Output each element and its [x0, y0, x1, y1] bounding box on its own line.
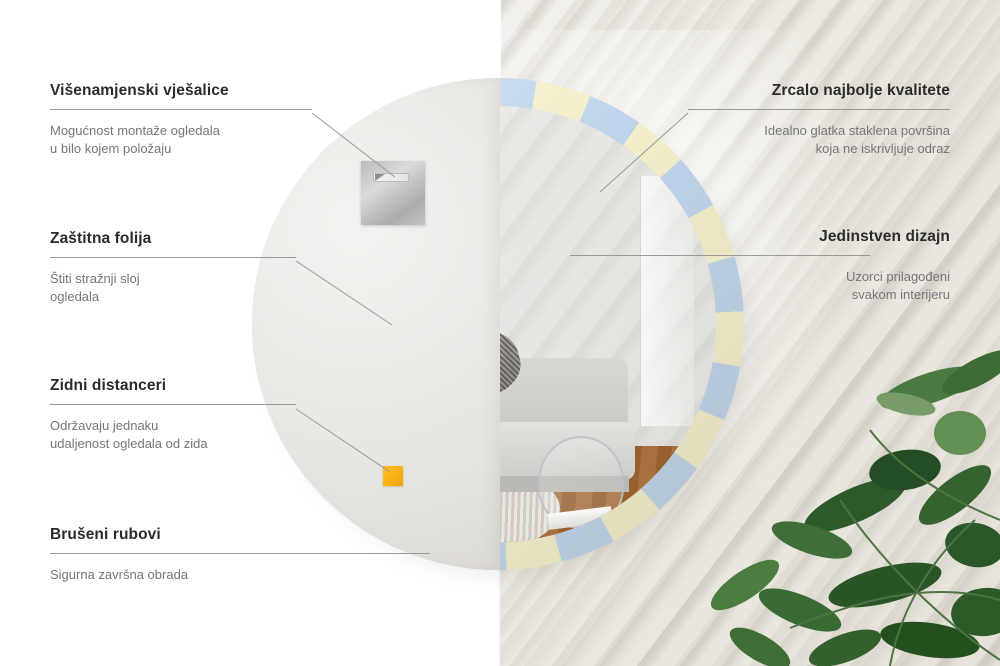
callout-wall-spacers-title: Zidni distanceri: [50, 377, 350, 395]
callout-protective-foil-description: Štiti stražnji sloj ogledala: [50, 270, 350, 306]
callout-unique-design-title: Jedinstven dizajn: [650, 228, 950, 246]
callout-unique-design-description: Uzorci prilagođeni svakom interijeru: [650, 268, 950, 304]
callout-mirror-quality-rule: [688, 109, 950, 110]
callout-unique-design: Jedinstven dizajn Uzorci prilagođeni sva…: [650, 228, 950, 304]
callout-mirror-quality-description: Idealno glatka staklena površina koja ne…: [650, 122, 950, 158]
callout-protective-foil-rule: [50, 257, 296, 258]
callout-wall-spacers: Zidni distanceri Održavaju jednaku udalj…: [50, 377, 350, 453]
hanger-plate: [361, 161, 425, 225]
hanger-keyhole-slot: [373, 173, 409, 182]
callout-hangers: Višenamjenski vješalice Mogućnost montaž…: [50, 82, 350, 158]
callout-mirror-quality-title: Zrcalo najbolje kvalitete: [650, 82, 950, 100]
callout-hangers-title: Višenamjenski vješalice: [50, 82, 350, 100]
callout-polished-edges-description: Sigurna završna obrada: [50, 566, 350, 584]
callout-protective-foil: Zaštitna folija Štiti stražnji sloj ogle…: [50, 230, 350, 306]
callout-mirror-quality: Zrcalo najbolje kvalitete Idealno glatka…: [650, 82, 950, 158]
callout-polished-edges: Brušeni rubovi Sigurna završna obrada: [50, 526, 350, 584]
callout-wall-spacers-description: Održavaju jednaku udaljenost ogledala od…: [50, 417, 350, 453]
callout-polished-edges-rule: [50, 553, 430, 554]
infographic-canvas: Višenamjenski vješalice Mogućnost montaž…: [0, 0, 1000, 666]
callout-polished-edges-title: Brušeni rubovi: [50, 526, 350, 544]
callout-wall-spacers-rule: [50, 404, 296, 405]
wall-spacer: [383, 466, 403, 486]
callout-hangers-description: Mogućnost montaže ogledala u bilo kojem …: [50, 122, 350, 158]
callout-hangers-rule: [50, 109, 312, 110]
callout-protective-foil-title: Zaštitna folija: [50, 230, 350, 248]
callout-unique-design-rule: [570, 255, 870, 256]
